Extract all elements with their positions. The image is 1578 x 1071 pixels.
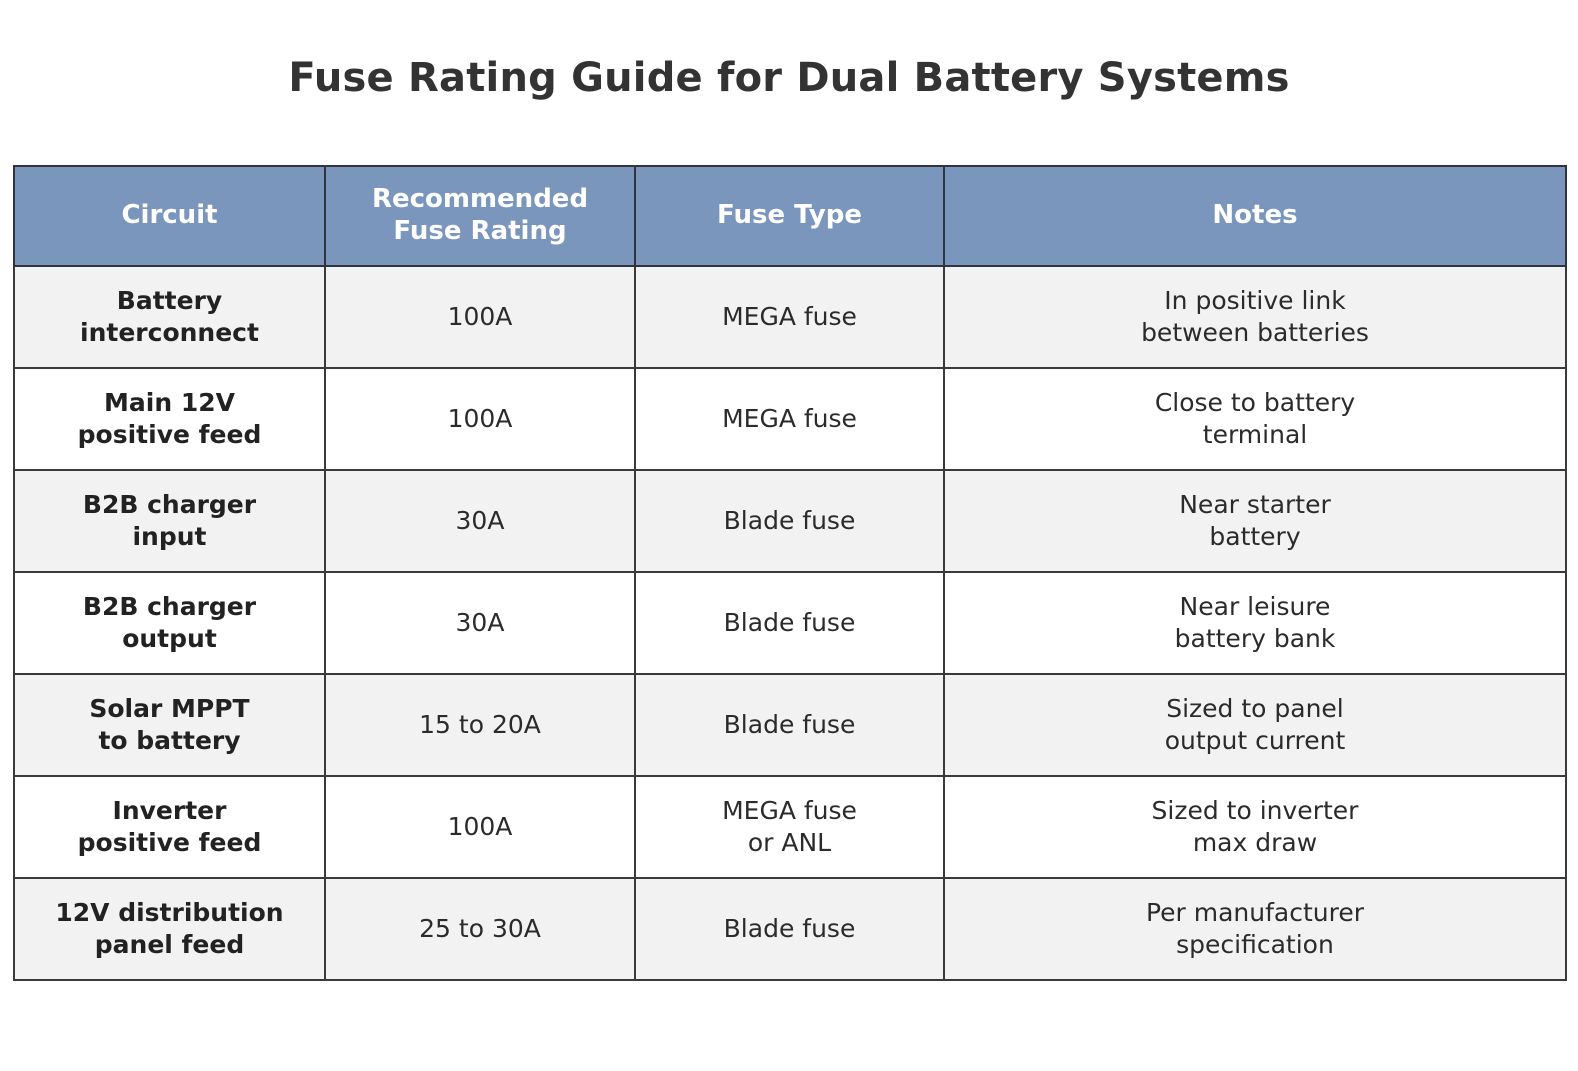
cell-notes: Near leisure battery bank [944, 572, 1566, 674]
cell-fuse-type-line1: Blade fuse [644, 505, 935, 538]
cell-circuit-line1: Inverter [23, 795, 316, 828]
column-header-circuit-label: Circuit [23, 200, 316, 232]
cell-notes-line2: output current [953, 725, 1557, 758]
cell-notes-line2: specification [953, 929, 1557, 962]
table-header-row: Circuit Recommended Fuse Rating Fuse Typ… [14, 166, 1566, 266]
cell-circuit-line2: positive feed [23, 827, 316, 860]
table-row: Inverter positive feed 100A MEGA fuse or… [14, 776, 1566, 878]
cell-fuse-type: Blade fuse [635, 470, 944, 572]
cell-circuit-line1: Main 12V [23, 387, 316, 420]
cell-notes-line1: Sized to panel [953, 693, 1557, 726]
cell-notes: Per manufacturer specification [944, 878, 1566, 980]
cell-circuit: B2B charger output [14, 572, 325, 674]
cell-notes-line2: max draw [953, 827, 1557, 860]
cell-fuse-type: Blade fuse [635, 878, 944, 980]
cell-fuse-type-line1: Blade fuse [644, 709, 935, 742]
cell-fuse-type-line2: or ANL [644, 827, 935, 860]
cell-notes-line1: In positive link [953, 285, 1557, 318]
table-row: B2B charger output 30A Blade fuse Near l… [14, 572, 1566, 674]
column-header-fuse-type: Fuse Type [635, 166, 944, 266]
cell-fuse-type-line1: MEGA fuse [644, 301, 935, 334]
table-header: Circuit Recommended Fuse Rating Fuse Typ… [14, 166, 1566, 266]
cell-notes-line1: Per manufacturer [953, 897, 1557, 930]
cell-rating: 15 to 20A [325, 674, 635, 776]
cell-rating: 30A [325, 572, 635, 674]
column-header-fuse-type-label: Fuse Type [644, 200, 935, 232]
cell-fuse-type: MEGA fuse or ANL [635, 776, 944, 878]
cell-rating: 25 to 30A [325, 878, 635, 980]
cell-circuit-line2: interconnect [23, 317, 316, 350]
column-header-recommended-fuse-rating: Recommended Fuse Rating [325, 166, 635, 266]
cell-notes: Near starter battery [944, 470, 1566, 572]
cell-circuit: Main 12V positive feed [14, 368, 325, 470]
column-header-circuit: Circuit [14, 166, 325, 266]
table-body: Battery interconnect 100A MEGA fuse In p… [14, 266, 1566, 980]
cell-fuse-type-line1: MEGA fuse [644, 403, 935, 436]
column-header-notes: Notes [944, 166, 1566, 266]
cell-circuit: B2B charger input [14, 470, 325, 572]
cell-rating: 100A [325, 266, 635, 368]
cell-notes-line1: Near starter [953, 489, 1557, 522]
fuse-rating-table: Circuit Recommended Fuse Rating Fuse Typ… [13, 165, 1567, 981]
fuse-rating-table-container: Circuit Recommended Fuse Rating Fuse Typ… [13, 165, 1565, 981]
cell-circuit-line1: 12V distribution [23, 897, 316, 930]
cell-notes-line2: terminal [953, 419, 1557, 452]
cell-circuit-line1: Solar MPPT [23, 693, 316, 726]
column-header-rating-line1: Recommended [334, 184, 626, 216]
cell-notes-line1: Near leisure [953, 591, 1557, 624]
cell-rating: 100A [325, 368, 635, 470]
cell-circuit: 12V distribution panel feed [14, 878, 325, 980]
table-row: B2B charger input 30A Blade fuse Near st… [14, 470, 1566, 572]
cell-notes-line2: battery bank [953, 623, 1557, 656]
table-row: 12V distribution panel feed 25 to 30A Bl… [14, 878, 1566, 980]
cell-notes-line1: Sized to inverter [953, 795, 1557, 828]
cell-rating: 30A [325, 470, 635, 572]
page-root: Fuse Rating Guide for Dual Battery Syste… [0, 0, 1578, 1071]
cell-fuse-type-line1: Blade fuse [644, 607, 935, 640]
table-row: Solar MPPT to battery 15 to 20A Blade fu… [14, 674, 1566, 776]
cell-notes: In positive link between batteries [944, 266, 1566, 368]
cell-circuit-line2: positive feed [23, 419, 316, 452]
cell-notes: Close to battery terminal [944, 368, 1566, 470]
cell-fuse-type-line1: MEGA fuse [644, 795, 935, 828]
cell-circuit-line2: output [23, 623, 316, 656]
cell-notes-line1: Close to battery [953, 387, 1557, 420]
cell-notes: Sized to panel output current [944, 674, 1566, 776]
page-title: Fuse Rating Guide for Dual Battery Syste… [0, 55, 1578, 101]
cell-circuit-line1: Battery [23, 285, 316, 318]
cell-notes-line2: battery [953, 521, 1557, 554]
column-header-rating-line2: Fuse Rating [334, 216, 626, 248]
cell-circuit-line1: B2B charger [23, 591, 316, 624]
cell-fuse-type-line1: Blade fuse [644, 913, 935, 946]
cell-notes: Sized to inverter max draw [944, 776, 1566, 878]
cell-fuse-type: Blade fuse [635, 572, 944, 674]
table-row: Battery interconnect 100A MEGA fuse In p… [14, 266, 1566, 368]
column-header-notes-label: Notes [953, 200, 1557, 232]
cell-notes-line2: between batteries [953, 317, 1557, 350]
cell-circuit-line1: B2B charger [23, 489, 316, 522]
cell-circuit-line2: to battery [23, 725, 316, 758]
cell-fuse-type: MEGA fuse [635, 266, 944, 368]
cell-rating: 100A [325, 776, 635, 878]
cell-circuit: Solar MPPT to battery [14, 674, 325, 776]
cell-circuit-line2: panel feed [23, 929, 316, 962]
cell-fuse-type: MEGA fuse [635, 368, 944, 470]
cell-fuse-type: Blade fuse [635, 674, 944, 776]
cell-circuit: Battery interconnect [14, 266, 325, 368]
cell-circuit: Inverter positive feed [14, 776, 325, 878]
table-row: Main 12V positive feed 100A MEGA fuse Cl… [14, 368, 1566, 470]
cell-circuit-line2: input [23, 521, 316, 554]
